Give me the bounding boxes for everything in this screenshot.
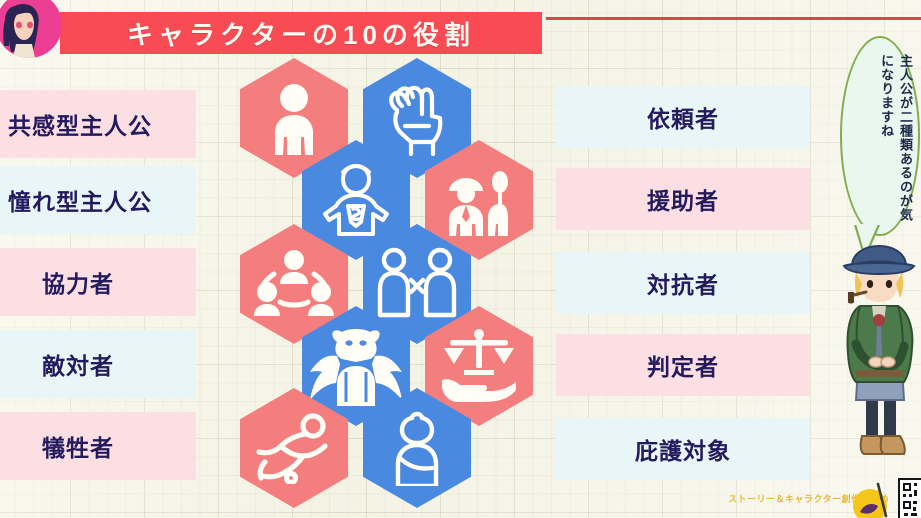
role-bar-left-5[interactable]: 犠牲者: [0, 412, 196, 480]
top-red-rule: [546, 17, 921, 20]
role-bar-right-5[interactable]: 庇護対象: [556, 418, 810, 480]
anime-girl-avatar-icon: [0, 0, 62, 58]
role-bar-left-3[interactable]: 協力者: [0, 248, 196, 316]
qr-code-icon[interactable]: [898, 478, 921, 518]
role-bar-left-2[interactable]: 憧れ型主人公: [0, 166, 196, 234]
role-bar-left-1[interactable]: 共感型主人公: [0, 90, 196, 158]
chalk-outline-body-icon: [240, 388, 348, 508]
page-title: キャラクターの10の役割: [127, 15, 475, 52]
sun-hat-logo-icon: [852, 480, 896, 518]
role-label: 判定者: [647, 348, 719, 382]
role-label: 憧れ型主人公: [0, 183, 152, 217]
role-bar-left-4[interactable]: 敵対者: [0, 330, 196, 398]
role-bar-right-4[interactable]: 判定者: [556, 334, 810, 396]
avatar: [0, 0, 62, 58]
detective-character: [836, 244, 921, 474]
role-label: 庇護対象: [635, 432, 731, 466]
role-label: 対抗者: [647, 266, 719, 300]
speech-bubble-text: 主人公が二種類あるのが気になりますね: [846, 54, 914, 226]
role-label: 共感型主人公: [0, 107, 152, 141]
role-bar-right-1[interactable]: 依頼者: [556, 86, 810, 148]
hexagon-diagram: [236, 58, 554, 498]
slide-root: キャラクターの10の役割 共感型主人公 憧れ型主人公 協力者 敵対者 犠牲者: [0, 0, 921, 518]
title-banner: キャラクターの10の役割: [60, 12, 542, 54]
swaddled-baby-icon: [363, 388, 471, 508]
role-bar-right-3[interactable]: 対抗者: [556, 252, 810, 314]
hex-chalk-outline-body[interactable]: [240, 388, 348, 508]
role-label: 依頼者: [647, 100, 719, 134]
role-bar-right-2[interactable]: 援助者: [556, 168, 810, 230]
detective-character-icon: [836, 244, 921, 474]
hex-swaddled-baby[interactable]: [363, 388, 471, 508]
role-label: 協力者: [0, 265, 114, 299]
role-label: 援助者: [647, 182, 719, 216]
speech-bubble: 主人公が二種類あるのが気になりますね: [840, 36, 920, 236]
role-label: 犠牲者: [0, 429, 114, 463]
role-label: 敵対者: [0, 347, 114, 381]
